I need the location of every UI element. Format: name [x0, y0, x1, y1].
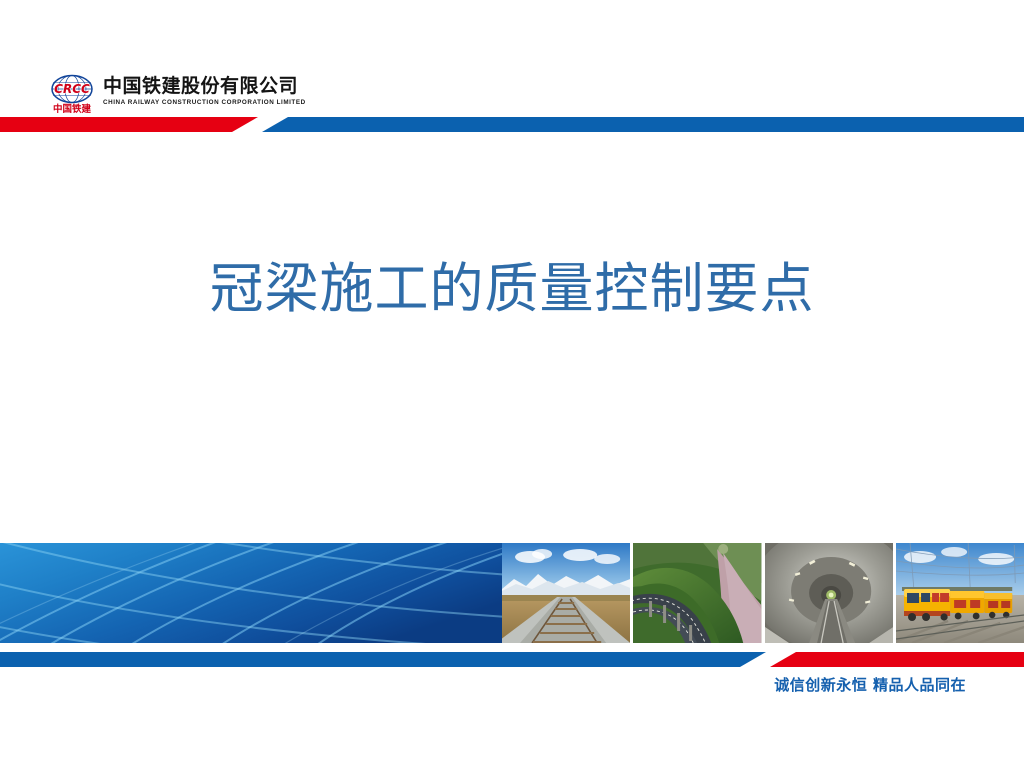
globe-icon: CRCC: [51, 74, 93, 104]
company-logo-block: CRCC 中国铁建 中国铁建股份有限公司 CHINA RAILWAY CONST…: [47, 74, 306, 118]
footer-band-blue: [0, 652, 766, 667]
crcc-globe-logo-icon: CRCC 中国铁建: [47, 74, 97, 118]
company-name-en: CHINA RAILWAY CONSTRUCTION CORPORATION L…: [103, 98, 306, 107]
photo-highway-viaduct: [633, 543, 761, 643]
top-band-blue: [262, 117, 1024, 132]
footer-band-red: [770, 652, 1024, 667]
logo-chinese-mark: 中国铁建: [47, 104, 97, 115]
company-name-cn: 中国铁建股份有限公司: [103, 76, 306, 97]
photo-strip: [502, 543, 1024, 643]
photo-railway-plateau: [502, 543, 630, 643]
top-decor-band: [0, 117, 1024, 132]
footer-slogan: 诚信创新永恒 精品人品同在: [774, 674, 966, 695]
train-body: [904, 589, 1012, 616]
svg-text:CRCC: CRCC: [54, 82, 90, 96]
presentation-slide: CRCC 中国铁建 中国铁建股份有限公司 CHINA RAILWAY CONST…: [0, 0, 1024, 768]
bottom-imagery-band: [0, 543, 1024, 643]
photo-yellow-maintenance-train: [896, 543, 1024, 643]
globe-gradient-panel: [0, 543, 502, 643]
company-name-block: 中国铁建股份有限公司 CHINA RAILWAY CONSTRUCTION CO…: [103, 74, 306, 107]
page-title: 冠梁施工的质量控制要点: [0, 256, 1024, 322]
top-band-red: [0, 117, 258, 132]
footer-decor-band: [0, 652, 1024, 667]
globe-meridian-lines: [0, 543, 502, 643]
photo-tunnel-interior: [765, 543, 893, 643]
